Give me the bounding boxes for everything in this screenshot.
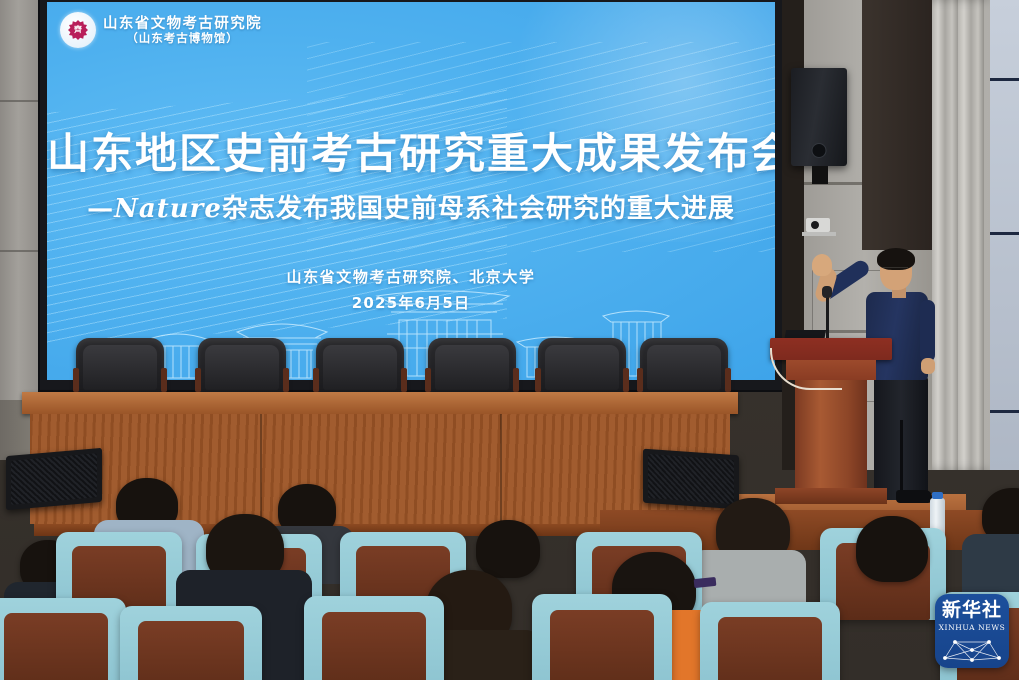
wall-mounted-speaker-icon <box>791 68 847 166</box>
audience-seat <box>532 594 672 680</box>
camera-mount <box>802 232 836 236</box>
slide-title-sub: —Nature杂志发布我国史前母系社会研究的重大进展 <box>47 188 775 225</box>
stage-chair <box>538 338 626 394</box>
nature-journal-name: Nature <box>114 194 222 224</box>
presentation-screen: 齊 山东省文物考古研究院 （山东考古博物馆） 山东地区史前考古研究重大成果发布会… <box>47 2 775 380</box>
stage-chairs <box>48 338 728 394</box>
organization-sub-name: （山东考古博物馆） <box>126 32 239 44</box>
podium-microphone-icon <box>826 292 829 340</box>
watermark-en-text: XINHUA NEWS <box>939 623 1006 632</box>
audience-body <box>962 534 1019 594</box>
screen-header: 齊 山东省文物考古研究院 （山东考古博物馆） <box>60 12 262 48</box>
conference-table-top <box>22 392 738 414</box>
window-curtain <box>932 0 994 470</box>
slide-title-main: 山东地区史前考古研究重大成果发布会 <box>47 120 775 181</box>
presenter-glasses <box>882 267 908 274</box>
sub-prefix: — <box>87 194 114 224</box>
slide-presenters: 山东省文物考古研究院、北京大学 <box>47 266 775 287</box>
institute-seal-icon: 齊 <box>60 12 96 48</box>
microphone-head <box>822 286 832 298</box>
sub-rest: 杂志发布我国史前母系社会研究的重大进展 <box>222 194 735 224</box>
watermark-cn-text: 新华社 <box>942 601 1002 620</box>
audience-head <box>476 520 540 578</box>
network-graphic-icon <box>941 636 1003 662</box>
stage-chair <box>198 338 286 394</box>
screenshot-root: 齊 山东省文物考古研究院 （山东考古博物馆） 山东地区史前考古研究重大成果发布会… <box>0 0 1019 680</box>
speaker-bracket <box>812 166 828 184</box>
dark-upper-wall <box>862 0 932 250</box>
presenter-left-arm <box>920 300 935 362</box>
stage-chair <box>316 338 404 394</box>
audience-seat <box>304 596 444 680</box>
presenter-left-hand <box>921 358 935 374</box>
stage-chair <box>76 338 164 394</box>
wall-camera-icon <box>806 218 830 232</box>
audience-head <box>856 516 928 582</box>
presenter-raised-hand <box>812 254 832 276</box>
audience-area <box>0 470 1019 680</box>
organization-block: 山东省文物考古研究院 （山东考古博物馆） <box>103 16 262 43</box>
audience-seat <box>0 598 126 680</box>
audience-seat <box>120 606 262 680</box>
window <box>990 0 1019 470</box>
organization-name: 山东省文物考古研究院 <box>103 16 262 31</box>
seal-glyph: 齊 <box>74 26 82 34</box>
audience-seat <box>700 602 840 680</box>
stage-chair <box>640 338 728 394</box>
stage-chair <box>428 338 516 394</box>
xinhua-news-watermark: 新华社 XINHUA NEWS <box>935 594 1009 668</box>
